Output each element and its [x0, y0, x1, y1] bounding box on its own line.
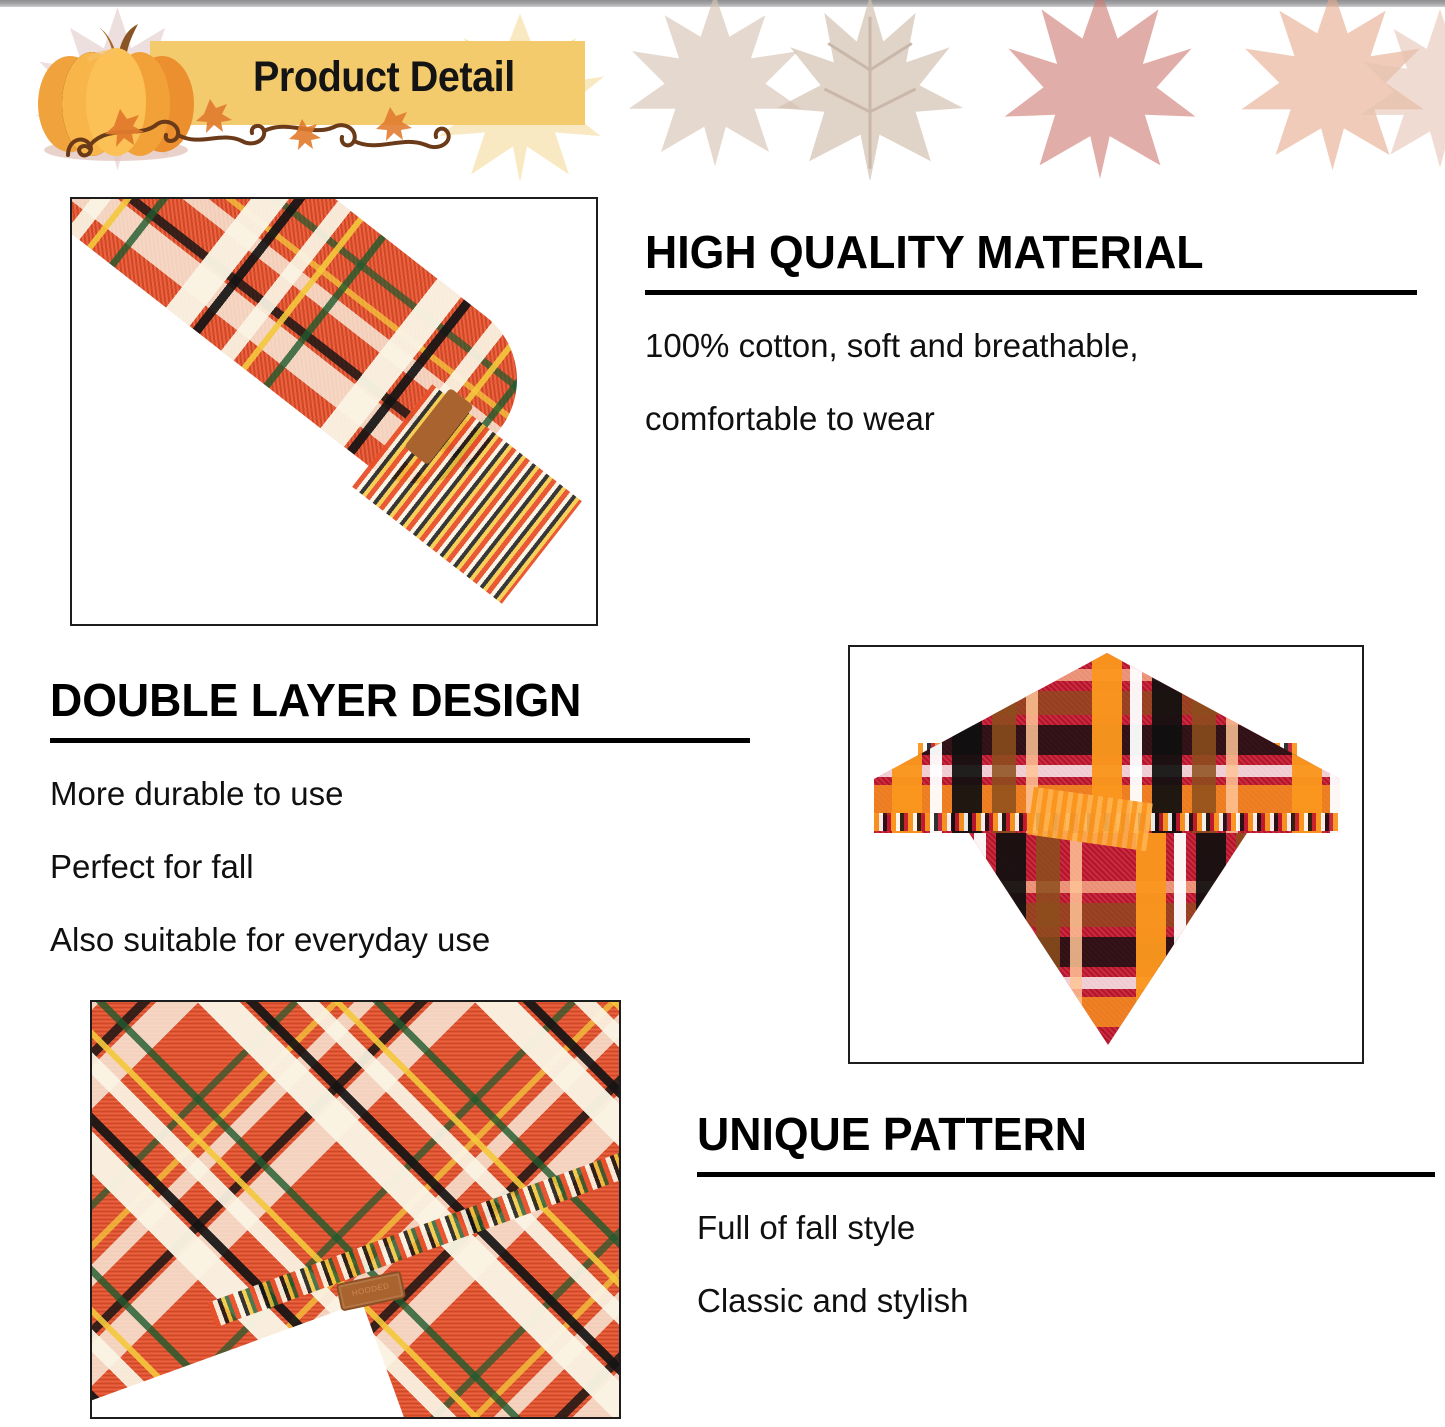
maple-leaf-icon [975, 0, 1225, 180]
autumn-vine-icon [60, 95, 480, 180]
section-line: Full of fall style [697, 1211, 1439, 1244]
section-high-quality-material: HIGH QUALITY MATERIAL 100% cotton, soft … [645, 228, 1420, 435]
section-divider [50, 738, 750, 743]
section-line: Classic and stylish [697, 1284, 1439, 1317]
maple-leaf-icon [745, 0, 995, 180]
section-divider [645, 290, 1417, 295]
section-line: Also suitable for everyday use [50, 923, 755, 956]
section-divider [697, 1172, 1435, 1177]
section-line: Perfect for fall [50, 850, 755, 883]
section-unique-pattern: UNIQUE PATTERN Full of fall style Classi… [697, 1110, 1439, 1317]
page-header: Product Detail [0, 0, 1445, 180]
section-line: 100% cotton, soft and breathable, [645, 329, 1420, 362]
section-line: More durable to use [50, 777, 755, 810]
section-line: comfortable to wear [645, 402, 1420, 435]
product-photo-rolled-scarf [70, 197, 598, 626]
maple-leaf-icon [1345, 6, 1445, 171]
product-photo-flat-lay: HOODED [90, 1000, 621, 1419]
section-heading: HIGH QUALITY MATERIAL [645, 228, 1397, 276]
section-heading: UNIQUE PATTERN [697, 1110, 1417, 1158]
section-heading: DOUBLE LAYER DESIGN [50, 676, 734, 724]
section-double-layer-design: DOUBLE LAYER DESIGN More durable to use … [50, 676, 755, 956]
product-photo-folded-bandana [848, 645, 1364, 1064]
